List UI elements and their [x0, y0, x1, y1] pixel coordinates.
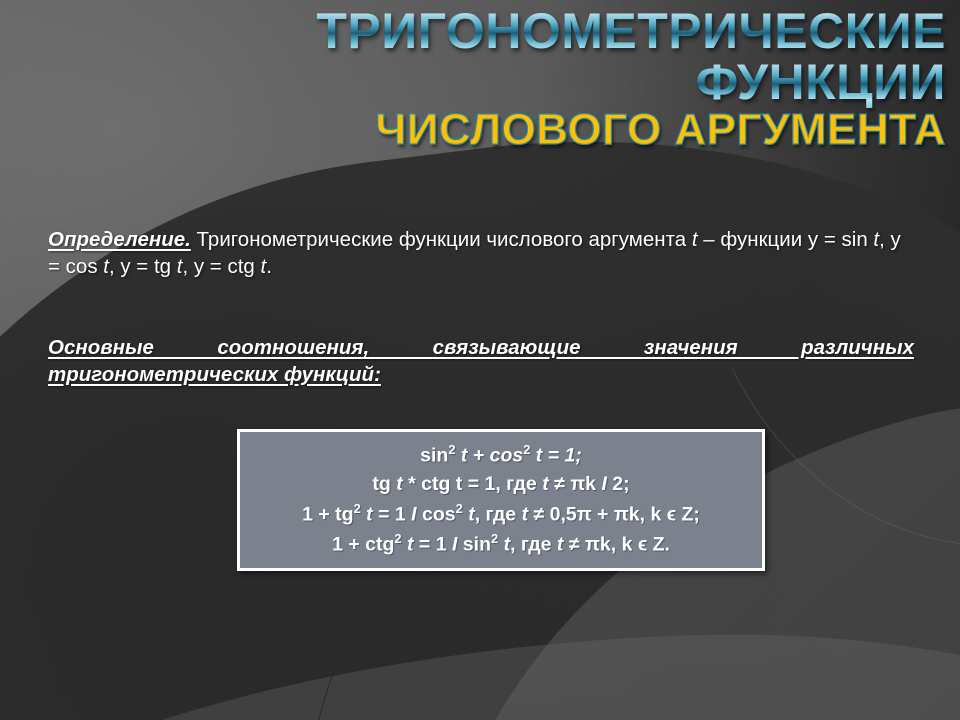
formula-line-3: 1 + tg2 t = 1 I cos2 t, где t ≠ 0,5π + π… [302, 500, 700, 529]
slide-title: ТРИГОНОМЕТРИЧЕСКИЕ ФУНКЦИИ ЧИСЛОВОГО АРГ… [40, 6, 946, 153]
title-line-3: ЧИСЛОВОГО АРГУМЕНТА [40, 108, 946, 153]
presentation-slide: ТРИГОНОМЕТРИЧЕСКИЕ ФУНКЦИИ ЧИСЛОВОГО АРГ… [0, 0, 960, 720]
formula-line-1: sin2 t + cos2 t = 1; [420, 441, 582, 470]
definition-text-5: , y = ctg [182, 255, 260, 278]
formula-1-c: t = 1; [530, 444, 581, 466]
formula-3-f: , где [475, 503, 522, 525]
formula-2-d: 2; [607, 473, 630, 495]
formula-2-b: * ctg t = 1, где [403, 473, 543, 495]
formula-1-b: t + cos [455, 444, 523, 466]
formula-4-d: sin [457, 533, 491, 555]
definition-text-1: Тригонометрические функции числового арг… [191, 228, 692, 251]
definition-paragraph: Определение. Тригонометрические функции … [48, 226, 914, 280]
formula-3-d: cos [417, 503, 456, 525]
definition-text-6: . [266, 255, 272, 278]
formula-4-c: = 1 [413, 533, 452, 555]
title-line-2: ФУНКЦИИ [40, 57, 946, 108]
formula-3-g: ≠ 0,5π + πk, k ϵ Z; [528, 503, 700, 525]
slide-content: ТРИГОНОМЕТРИЧЕСКИЕ ФУНКЦИИ ЧИСЛОВОГО АРГ… [0, 0, 960, 720]
formula-1-a: sin [420, 444, 448, 466]
formula-line-2: tg t * ctg t = 1, где t ≠ πk I 2; [372, 471, 629, 499]
title-line-1: ТРИГОНОМЕТРИЧЕСКИЕ [40, 6, 946, 57]
formula-4-g: ≠ πk, k ϵ Z. [563, 533, 670, 555]
formula-4-a: 1 + ctg [332, 533, 394, 555]
relations-heading: Основные соотношения, связывающие значен… [48, 334, 914, 388]
formula-2-a: tg [372, 473, 396, 495]
definition-text-2: – функции y = sin [698, 228, 874, 251]
formula-4-sup1: 2 [394, 531, 401, 546]
formula-3-sup1: 2 [354, 501, 361, 516]
formula-box: sin2 t + cos2 t = 1; tg t * ctg t = 1, г… [237, 429, 765, 571]
formula-3-a: 1 + tg [302, 503, 353, 525]
definition-lead-label: Определение. [48, 228, 191, 251]
formula-3-sup2: 2 [456, 501, 463, 516]
formula-3-c: = 1 [373, 503, 412, 525]
formula-4-f: , где [510, 533, 557, 555]
formula-2-c: ≠ πk [549, 473, 602, 495]
formula-line-4: 1 + ctg2 t = 1 I sin2 t, где t ≠ πk, k ϵ… [332, 530, 670, 559]
definition-text-4: , y = tg [109, 255, 177, 278]
